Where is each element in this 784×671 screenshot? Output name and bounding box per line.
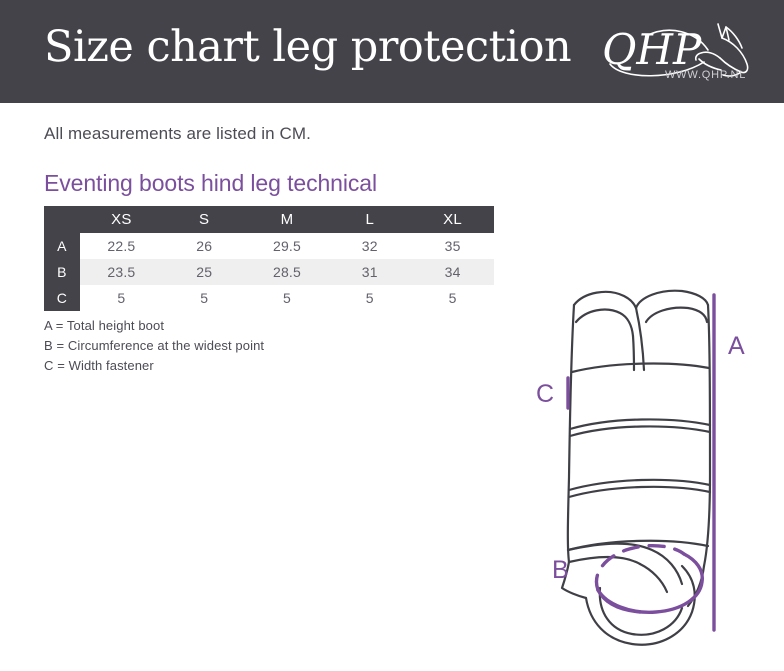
cell-b-s: 25 <box>163 259 246 285</box>
cell-a-l: 32 <box>328 233 411 259</box>
boot-outline <box>562 291 710 645</box>
marker-b-ellipse-solid <box>598 554 702 612</box>
column-header-m: M <box>246 206 329 233</box>
marker-c-label: C <box>536 380 554 408</box>
boot-top-lobe-right <box>636 291 708 308</box>
marker-b-ellipse-dashed <box>596 546 684 590</box>
size-chart-table: XS S M L XL A 22.5 26 29.5 32 35 B 23.5 … <box>44 206 494 311</box>
column-header-l: L <box>328 206 411 233</box>
strap-1-top <box>572 363 709 372</box>
page-header: Size chart leg protection QHP WWW.QHP.NL <box>0 0 784 103</box>
cell-b-xl: 34 <box>411 259 494 285</box>
cell-c-l: 5 <box>328 285 411 311</box>
table-corner-cell <box>44 206 80 233</box>
cell-b-l: 31 <box>328 259 411 285</box>
column-header-s: S <box>163 206 246 233</box>
strap-2-bottom-echo <box>569 487 710 497</box>
legend-line-c: C = Width fastener <box>44 356 444 376</box>
intro-text: All measurements are listed in CM. <box>44 124 311 144</box>
boot-top-lobe-left <box>574 292 636 308</box>
cell-a-s: 26 <box>163 233 246 259</box>
boot-right-edge <box>704 305 710 566</box>
boot-notch-right <box>636 308 644 370</box>
legend-line-b: B = Circumference at the widest point <box>44 336 444 356</box>
cell-b-m: 28.5 <box>246 259 329 285</box>
cell-c-xs: 5 <box>80 285 163 311</box>
measurement-legend: A = Total height boot B = Circumference … <box>44 316 444 376</box>
table-header-row: XS S M L XL <box>44 206 494 233</box>
table-row: C 5 5 5 5 5 <box>44 285 494 311</box>
qhp-logo: QHP WWW.QHP.NL <box>600 18 765 90</box>
cell-a-xs: 22.5 <box>80 233 163 259</box>
boot-left-edge <box>568 305 574 562</box>
page-title: Size chart leg protection <box>44 22 571 72</box>
row-label-a: A <box>44 233 80 259</box>
cell-a-m: 29.5 <box>246 233 329 259</box>
boot-top-inner-left <box>576 310 633 336</box>
boot-top-inner-right <box>646 308 707 322</box>
cell-c-xl: 5 <box>411 285 494 311</box>
row-label-c: C <box>44 285 80 311</box>
logo-wordmark-text: QHP <box>602 25 702 74</box>
cell-c-m: 5 <box>246 285 329 311</box>
table-row: A 22.5 26 29.5 32 35 <box>44 233 494 259</box>
logo-url-text: WWW.QHP.NL <box>665 69 746 81</box>
cell-c-s: 5 <box>163 285 246 311</box>
table-header: XS S M L XL <box>44 206 494 233</box>
fetlock-seam <box>640 564 667 592</box>
column-header-xl: XL <box>411 206 494 233</box>
section-heading: Eventing boots hind leg technical <box>44 170 377 197</box>
boot-illustration: A C B <box>512 278 784 650</box>
table-row: B 23.5 25 28.5 31 34 <box>44 259 494 285</box>
cell-a-xl: 35 <box>411 233 494 259</box>
strap-1-bottom-echo <box>570 426 710 436</box>
legend-line-a: A = Total height boot <box>44 316 444 336</box>
table-body: A 22.5 26 29.5 32 35 B 23.5 25 28.5 31 3… <box>44 233 494 311</box>
cell-b-xs: 23.5 <box>80 259 163 285</box>
marker-b-ellipse-front-left <box>598 590 640 612</box>
row-label-b: B <box>44 259 80 285</box>
column-header-xs: XS <box>80 206 163 233</box>
marker-b-label: B <box>552 556 569 584</box>
marker-a-label: A <box>728 332 745 360</box>
